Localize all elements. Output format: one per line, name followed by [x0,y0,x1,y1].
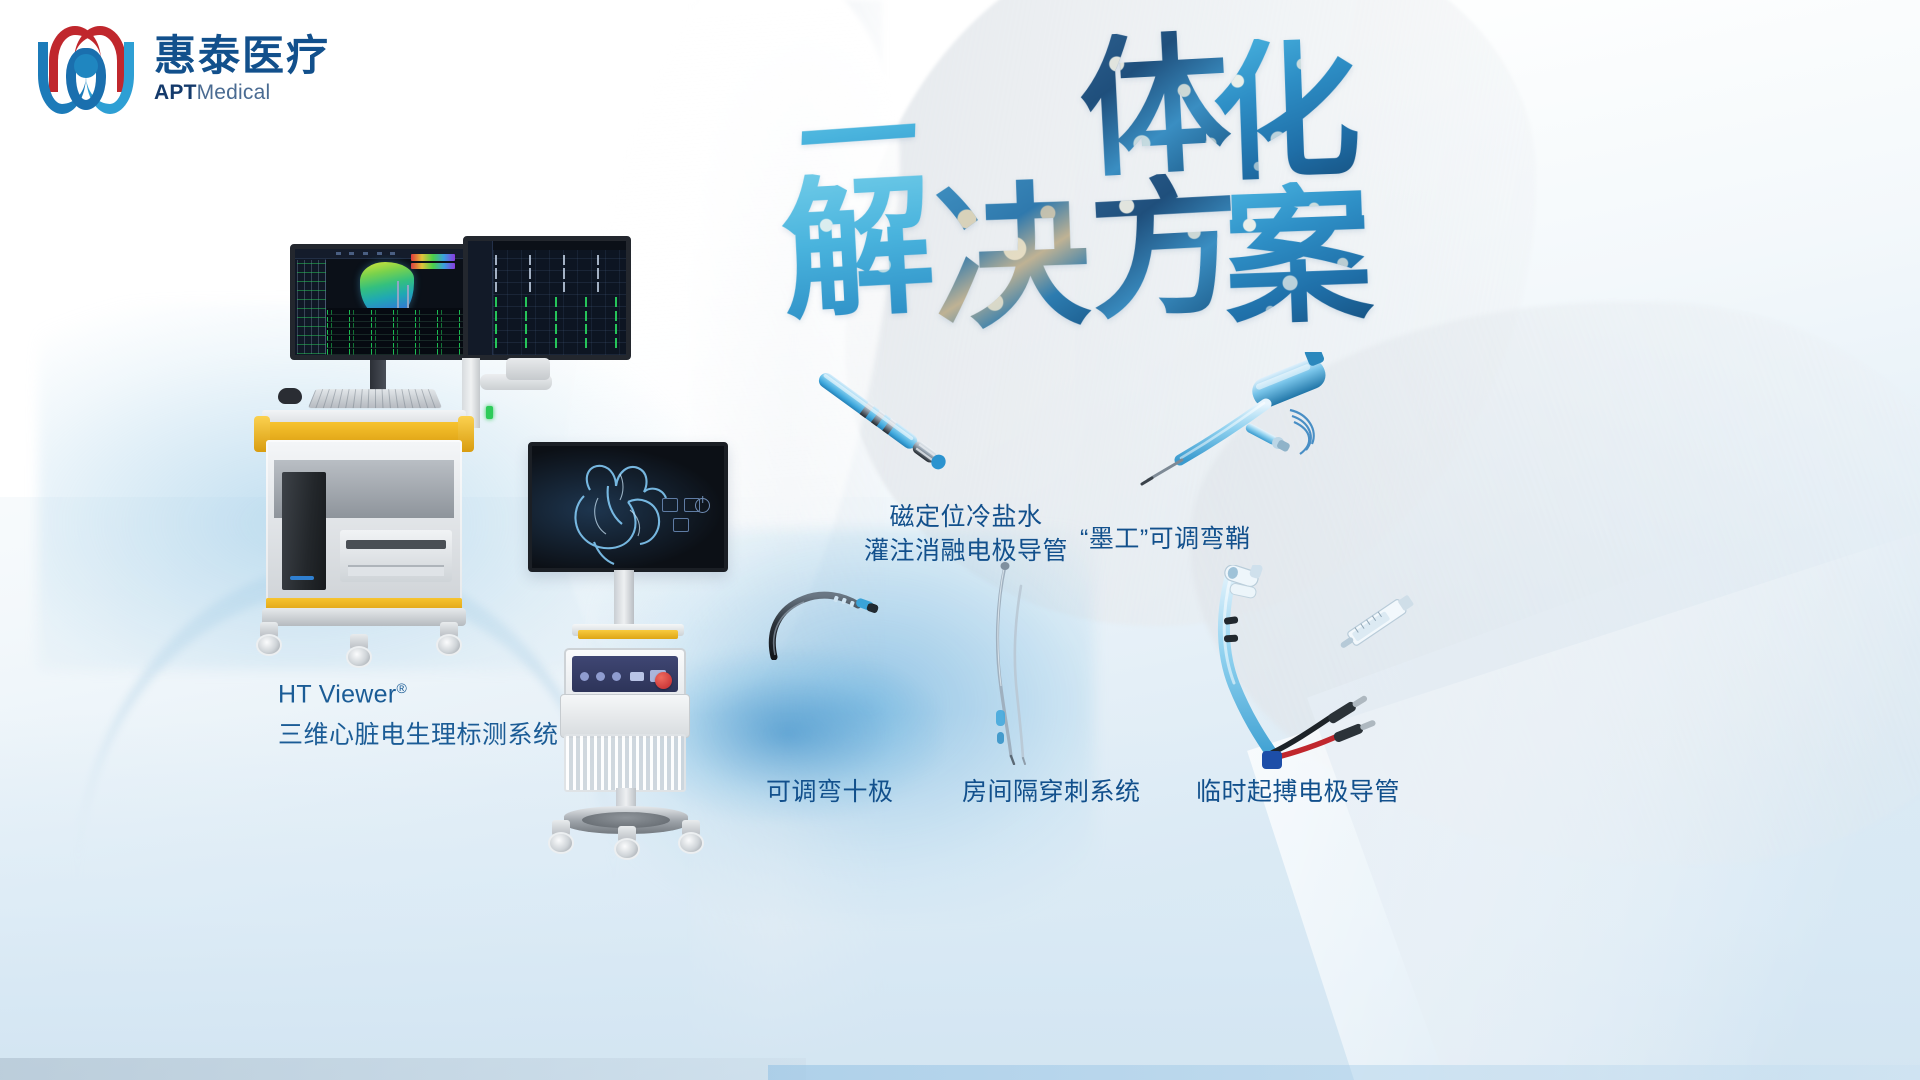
cart-caster [256,622,282,656]
generator-cart-caster [678,820,704,854]
transseptal-system-label: 房间隔穿刺系统 [962,775,1141,809]
generator-cart-caster [614,826,640,860]
ep-mapping-cart [248,240,568,660]
monitor-ecg-recorder [463,236,631,360]
screen-ecg [468,241,626,355]
generator-control-panel [564,648,686,700]
headline-char-6: 方 [1086,170,1244,328]
temporary-pacing-catheter-illustration [1200,565,1420,765]
emergency-stop-button[interactable] [655,672,672,689]
panel-knob-2[interactable] [596,672,605,681]
headline-char-7: 案 [1221,179,1374,332]
ecg-sidebar [468,241,493,355]
display-menu-button-1[interactable] [662,498,678,512]
keyboard [308,389,442,408]
steerable-sheath-label: “墨工”可调弯鞘 [1080,522,1251,556]
workstation-tower [282,472,326,590]
ht-viewer-name-cn: 三维心脏电生理标测系统 [278,715,559,751]
ablation-catheter-label: 磁定位冷盐水灌注消融电极导管 [864,500,1068,568]
panel-knob-3[interactable] [612,672,621,681]
bg-bottom-band-grey [0,1058,806,1080]
brand-name-cn: 惠泰医疗 [154,32,330,79]
display-stand-column [614,570,634,626]
screen-3d-map [295,249,465,355]
power-led-indicator [486,406,493,419]
brand-wordmark: 惠泰医疗 APTMedical [154,32,330,104]
monitor-3d-map [290,244,470,360]
apt-medical-heart-logo-icon [34,20,138,116]
ablation-label-line1: 磁定位冷盐水 [890,503,1043,531]
panel-readout [630,672,644,681]
heart-display-monitor [528,442,728,572]
brand-logo: 惠泰医疗 APTMedical [34,20,330,116]
bg-bottom-blue [0,713,1920,1080]
decapolar-catheter-illustration [760,585,880,655]
screen-colorbar-2 [411,263,455,269]
bg-bottom-band-blue [768,1065,1920,1080]
decapolar-catheter-label: 可调弯十极 [766,775,894,809]
display-menu-button-3[interactable] [673,518,689,532]
poster-canvas: 惠泰医疗 APTMedical 一 体 化 解 决 方 案 [0,0,1920,1080]
generator-cart [548,630,708,850]
ablation-catheter-illustration [800,360,970,490]
headline-char-4: 解 [778,168,938,328]
generator-cart-caster [548,820,574,854]
brand-name-en-bold: APT [154,81,197,104]
steerable-sheath-illustration [1140,352,1360,512]
cart-caster [346,634,372,668]
brand-name-en-light: Medical [197,81,271,104]
panel-knob-1[interactable] [580,672,589,681]
computer-mouse [278,388,302,404]
headline-calligraphy: 一 体 化 解 决 方 案 [792,22,1352,322]
cart-caster [436,622,462,656]
headline-char-5: 决 [931,177,1092,338]
accessory-basket [564,734,686,792]
ht-viewer-label: HT Viewer® 三维心脏电生理标测系统 [278,680,559,751]
generator-housing [560,694,690,738]
temporary-pacing-catheter-label: 临时起搏电极导管 [1196,775,1400,809]
heart-display-frame [528,442,728,572]
screen-colorbar-1 [411,254,455,260]
monitor-arm-joint [506,358,550,380]
screen-signal-column [297,260,326,354]
transseptal-system-illustration [975,560,1045,760]
ht-viewer-name-en: HT Viewer® [278,680,559,709]
power-icon[interactable] [695,498,710,513]
report-printer [340,530,452,582]
screen-ecg-panel [327,308,465,355]
brand-name-en: APTMedical [154,81,330,104]
